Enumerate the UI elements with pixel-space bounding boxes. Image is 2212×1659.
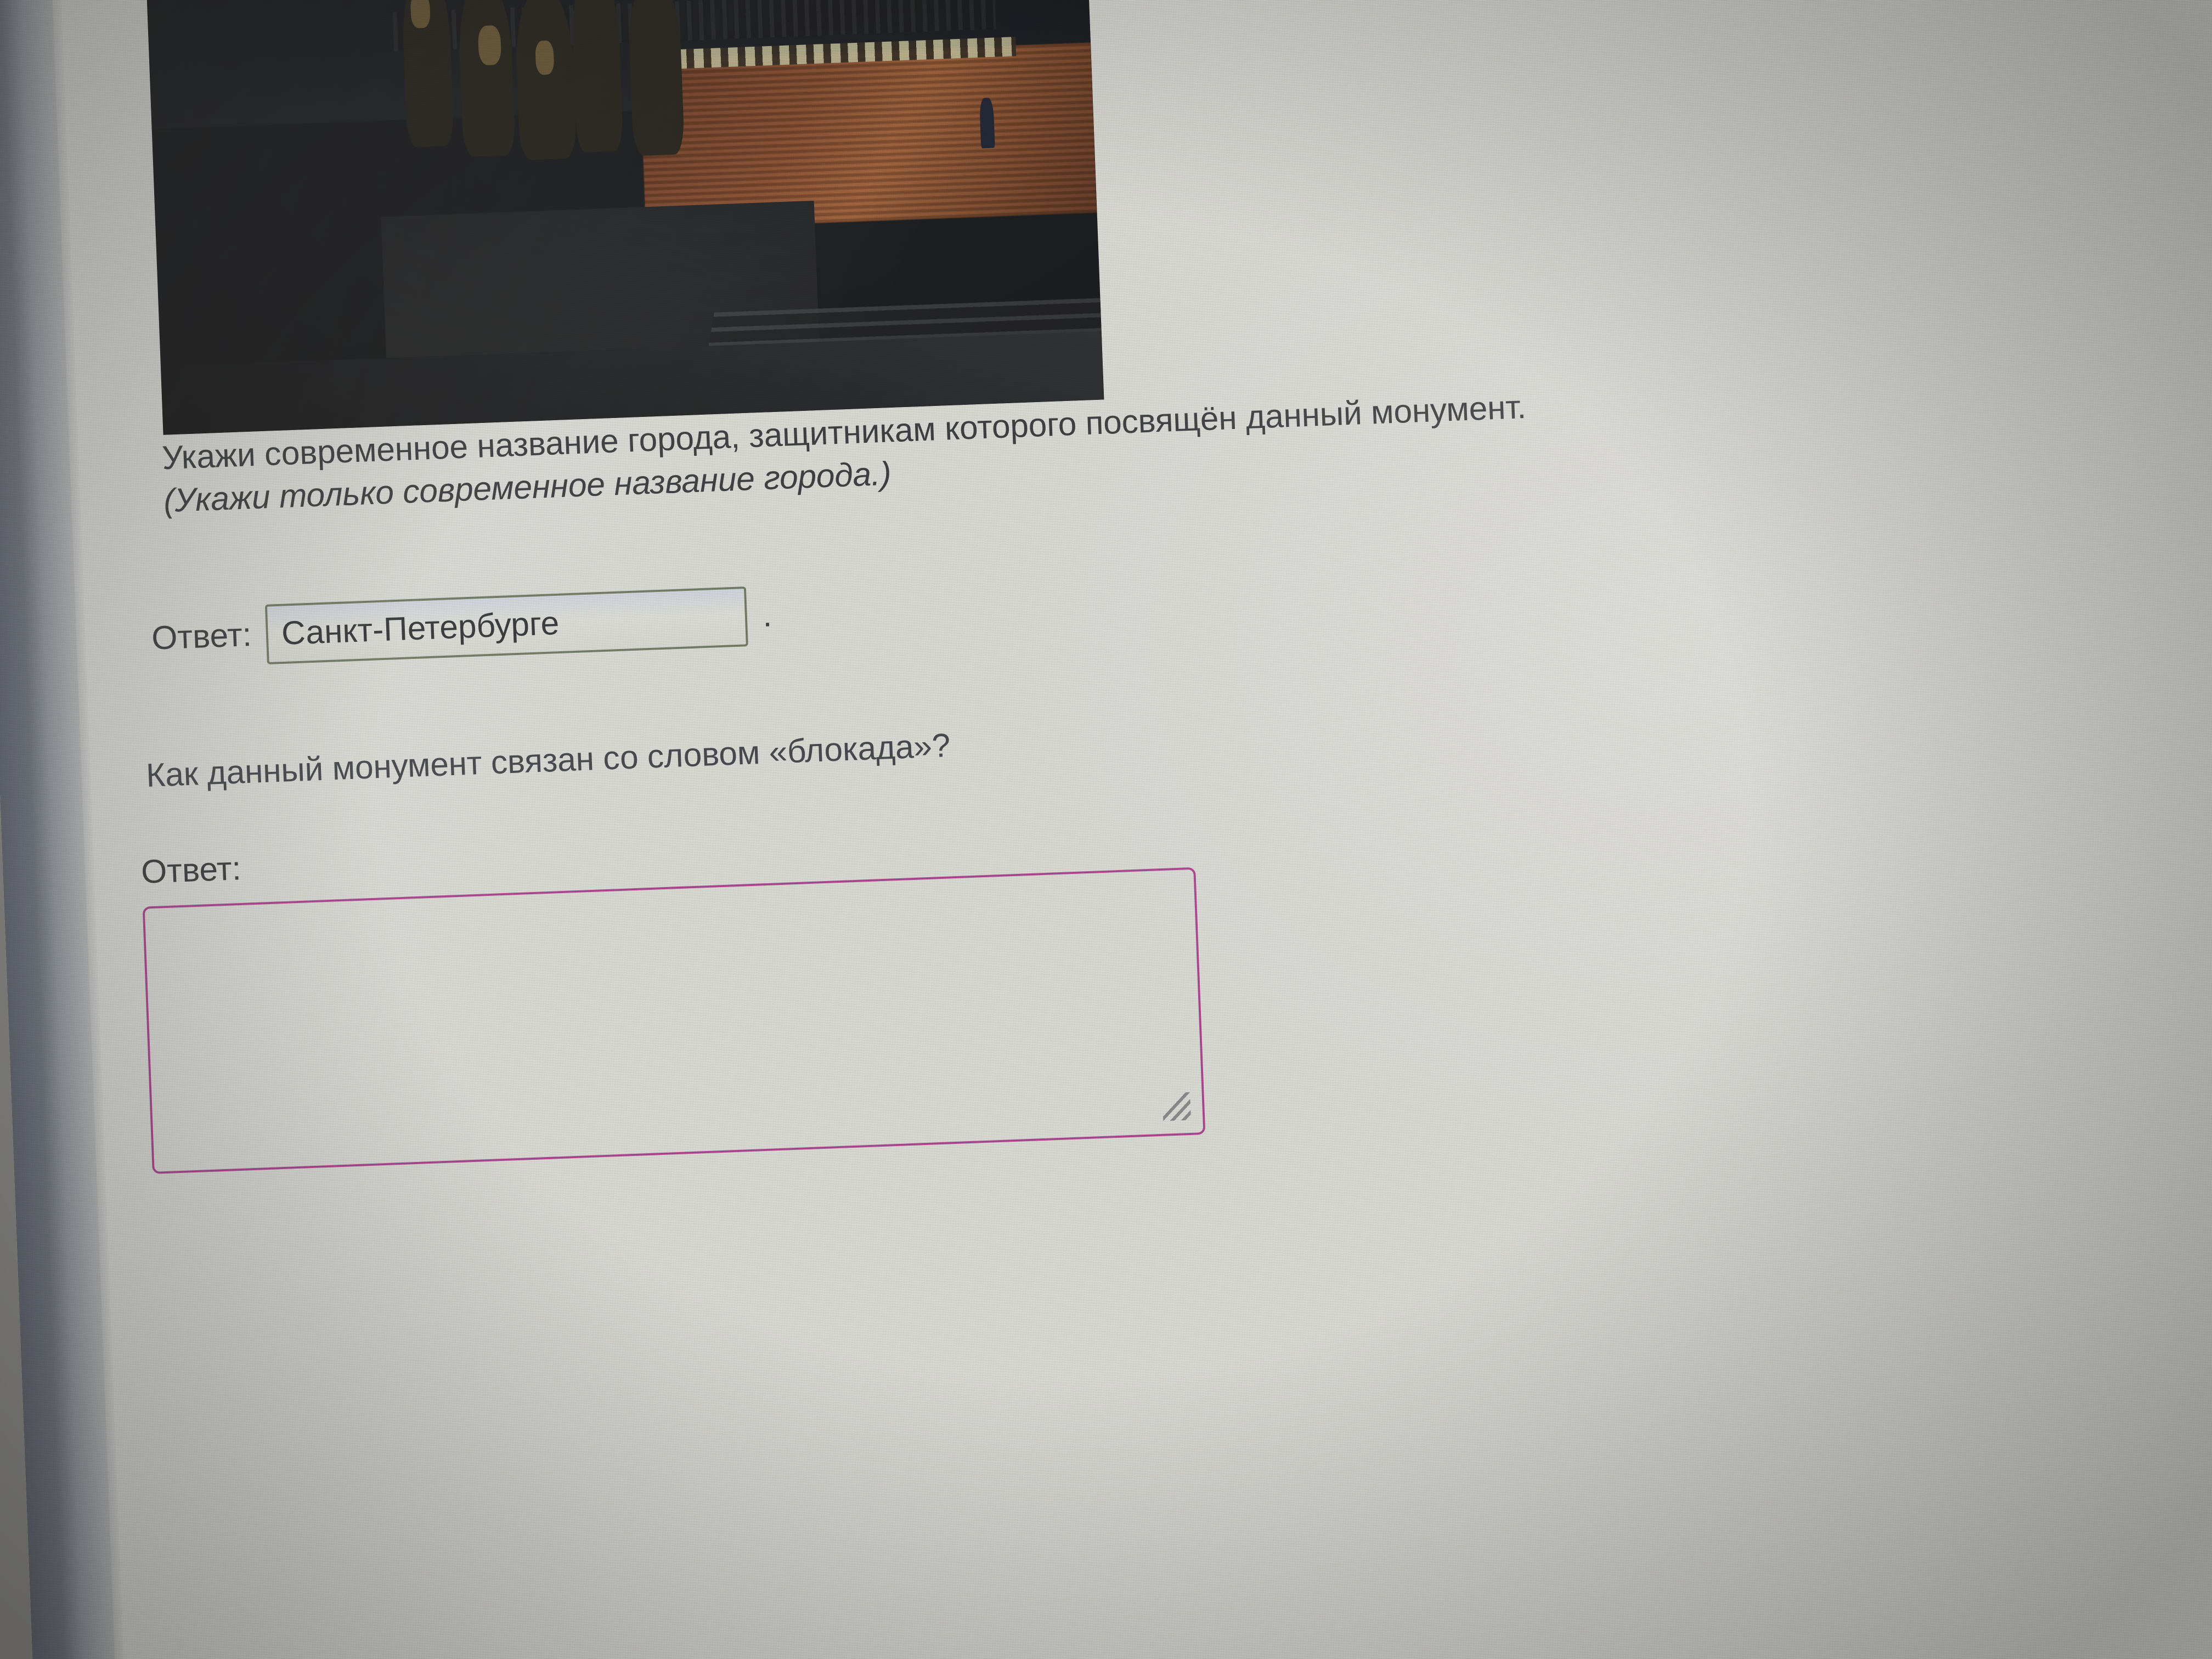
web-page-canvas: Укажи современное название города, защит… bbox=[58, 0, 2212, 1659]
resize-grip-icon[interactable] bbox=[1162, 1092, 1191, 1121]
photographed-screen-scene: Укажи современное название города, защит… bbox=[0, 0, 2212, 1659]
answer-1-label: Ответ: bbox=[151, 616, 252, 658]
question-2-text: Как данный монумент связан со словом «бл… bbox=[145, 709, 1430, 795]
page-content: Укажи современное название города, защит… bbox=[58, 0, 2212, 1659]
monument-photo bbox=[142, 0, 1104, 435]
laptop-screen: Укажи современное название города, защит… bbox=[0, 0, 2212, 1659]
answer-1-trailing-period: . bbox=[762, 596, 772, 635]
answer-1-row: Ответ: . bbox=[150, 585, 772, 669]
answer-1-input[interactable] bbox=[266, 586, 749, 664]
photo-darkening-overlay bbox=[142, 0, 1104, 435]
answer-2-textarea[interactable] bbox=[143, 867, 1206, 1174]
answer-2-label: Ответ: bbox=[140, 850, 242, 892]
